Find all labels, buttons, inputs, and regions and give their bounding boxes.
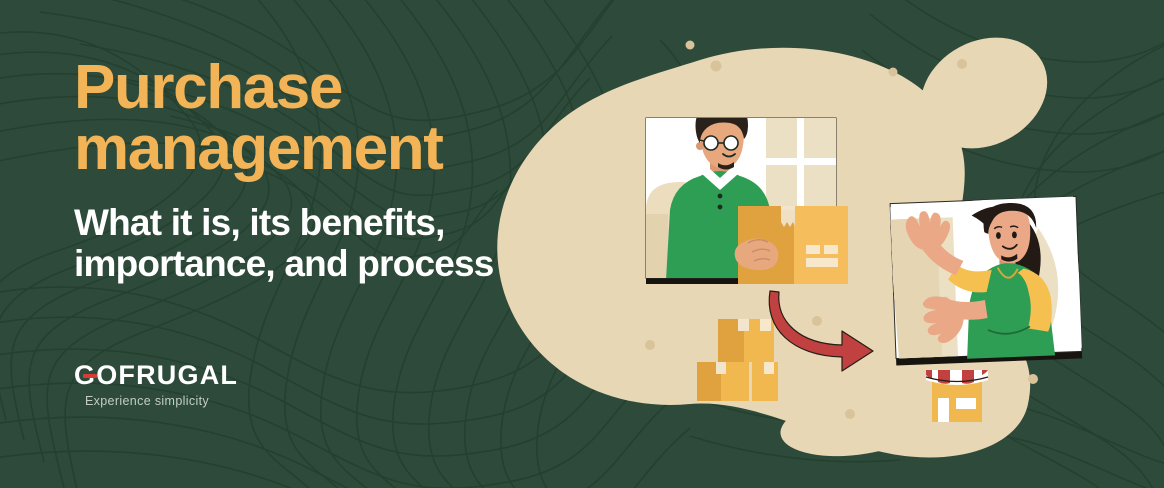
logo-wordmark: GOFRUGAL [74,362,238,389]
text-column: Purchase management What it is, its bene… [74,58,594,284]
panel-delivery-man [646,103,848,284]
shop-storefront-icon [926,370,988,422]
page-subtitle: What it is, its benefits, importance, an… [74,202,594,285]
gofrugal-logo[interactable]: GOFRUGAL Experience simplicity [74,362,238,408]
logo-wordmark-text: GOFRUGAL [74,360,238,390]
panel-receiving-woman [890,196,1082,365]
purchase-management-banner: Purchase management What it is, its bene… [0,0,1164,488]
dot-ellipse-top [957,59,967,69]
page-title: Purchase management [74,58,594,180]
logo-tagline: Experience simplicity [74,394,220,408]
dot-ellipse-bottom [845,409,855,419]
logo-accent-bar [83,374,97,378]
